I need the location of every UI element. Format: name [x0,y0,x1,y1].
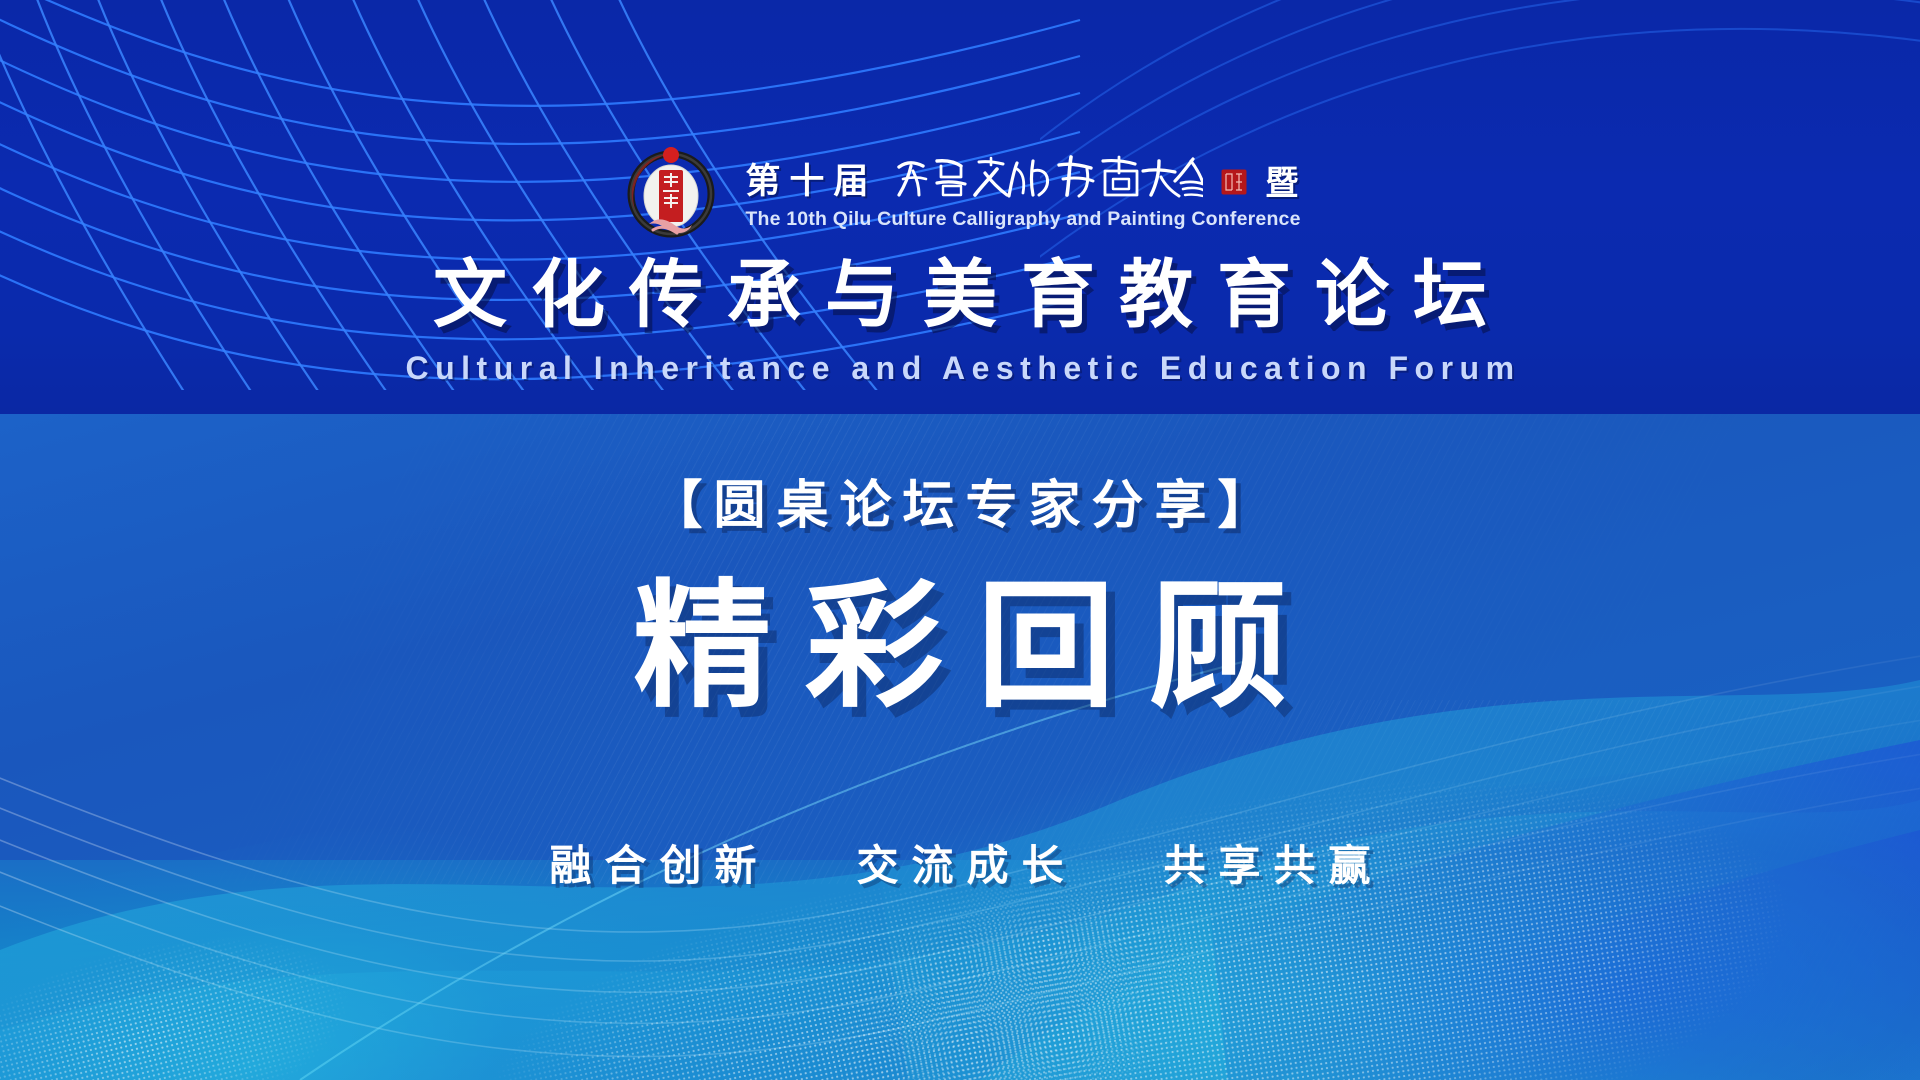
red-seal-stamp-icon [1221,169,1247,195]
conference-title-line: 第十届 [745,153,1298,199]
session-bracket-label: 【圆桌论坛专家分享】 [0,480,1920,532]
conference-ordinal: 第十届 [745,164,877,199]
slogan-item-2: 交流成长 [843,845,1076,887]
conference-name-english: The 10th Qilu Culture Calligraphy and Pa… [745,208,1300,231]
slogan-item-3: 共享共赢 [1151,845,1384,887]
forum-title-english: Cultural Inheritance and Aesthetic Educa… [0,352,1920,384]
poster-canvas: 第十届 [0,0,1920,1080]
poster-content: 第十届 [0,0,1920,1080]
conference-suffix: 暨 [1265,166,1298,199]
forum-title-chinese: 文化传承与美育教育论坛 [0,258,1920,332]
session-headline: 精彩回顾 [0,578,1920,716]
conference-logo-icon [619,140,723,244]
conference-text-block: 第十届 [745,153,1300,231]
conference-name-calligraphy [893,153,1203,199]
conference-identity-row: 第十届 [0,140,1920,244]
slogan-item-1: 融合创新 [536,845,769,887]
slogan-row: 融合创新 交流成长 共享共赢 [0,845,1920,887]
